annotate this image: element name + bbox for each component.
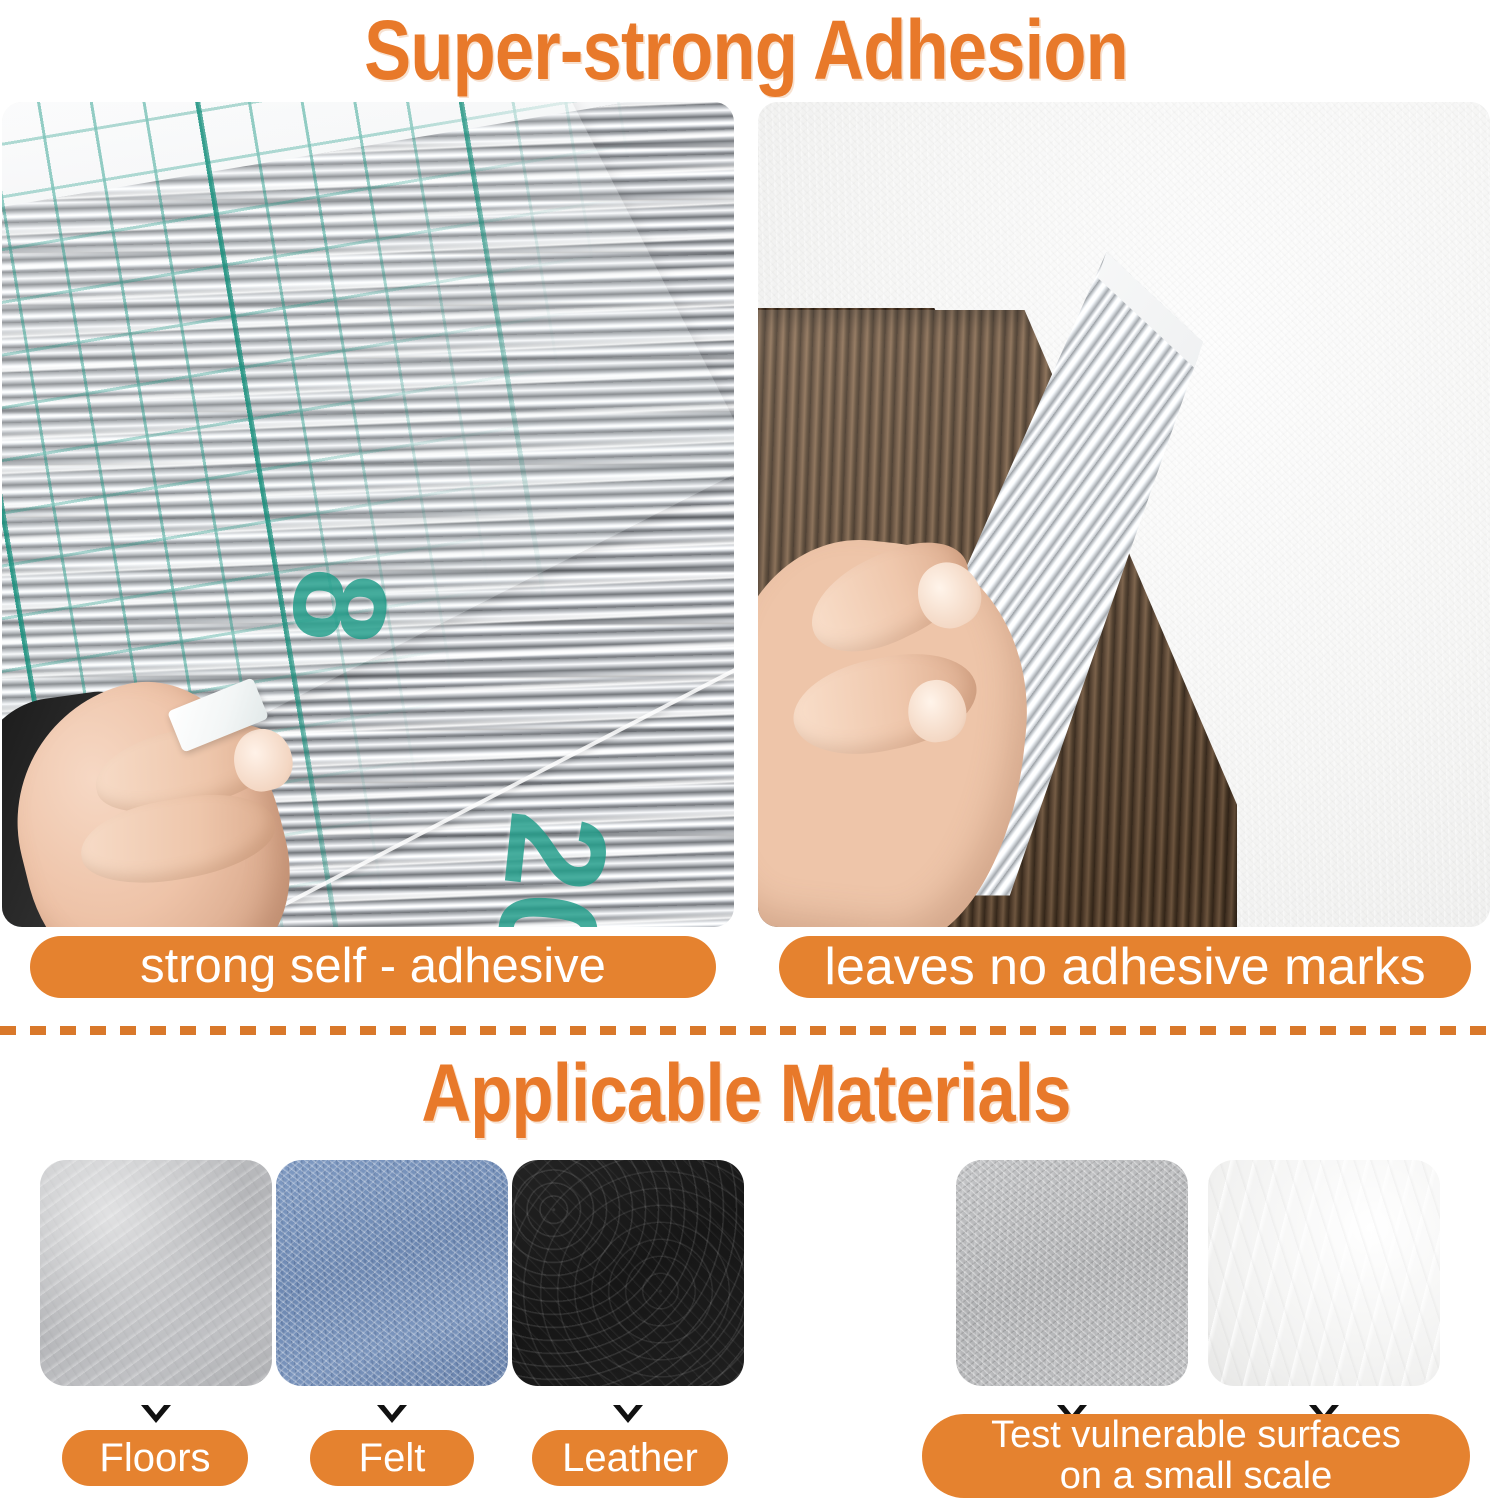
material-swatch-gray-wall [956,1160,1188,1386]
photo-self-adhesive-liner-peel: 8 20 [2,102,734,927]
rough-wall-texture [956,1160,1188,1386]
material-label-felt: Felt [310,1430,474,1486]
material-swatch-white-wall [1208,1160,1440,1386]
page-title-adhesion: Super-strong Adhesion [119,2,1372,98]
material-swatch-felt [276,1160,508,1386]
page-title-materials: Applicable Materials [119,1046,1372,1142]
photo-no-adhesive-marks [758,102,1490,927]
caption-leaves-no-adhesive-marks: leaves no adhesive marks [779,936,1471,998]
caution-label-test-vulnerable-surfaces: Test vulnerable surfaces on a small scal… [922,1414,1470,1498]
material-label-leather: Leather [532,1430,728,1486]
caution-label-line2: on a small scale [1060,1456,1332,1497]
material-swatch-floors [40,1160,272,1386]
leather-texture [512,1160,744,1386]
white-plaster-texture [1208,1160,1440,1386]
adhesion-photo-row: 8 20 [0,102,1492,927]
caption-strong-self-adhesive: strong self - adhesive [30,936,716,998]
printed-mark-20: 20 [463,805,641,927]
material-label-floors: Floors [62,1430,248,1486]
caution-label-line1: Test vulnerable surfaces [991,1415,1401,1456]
concrete-texture [40,1160,272,1386]
printed-mark-8: 8 [261,562,419,653]
dashed-divider [0,1026,1492,1035]
felt-texture [276,1160,508,1386]
material-swatch-leather [512,1160,744,1386]
